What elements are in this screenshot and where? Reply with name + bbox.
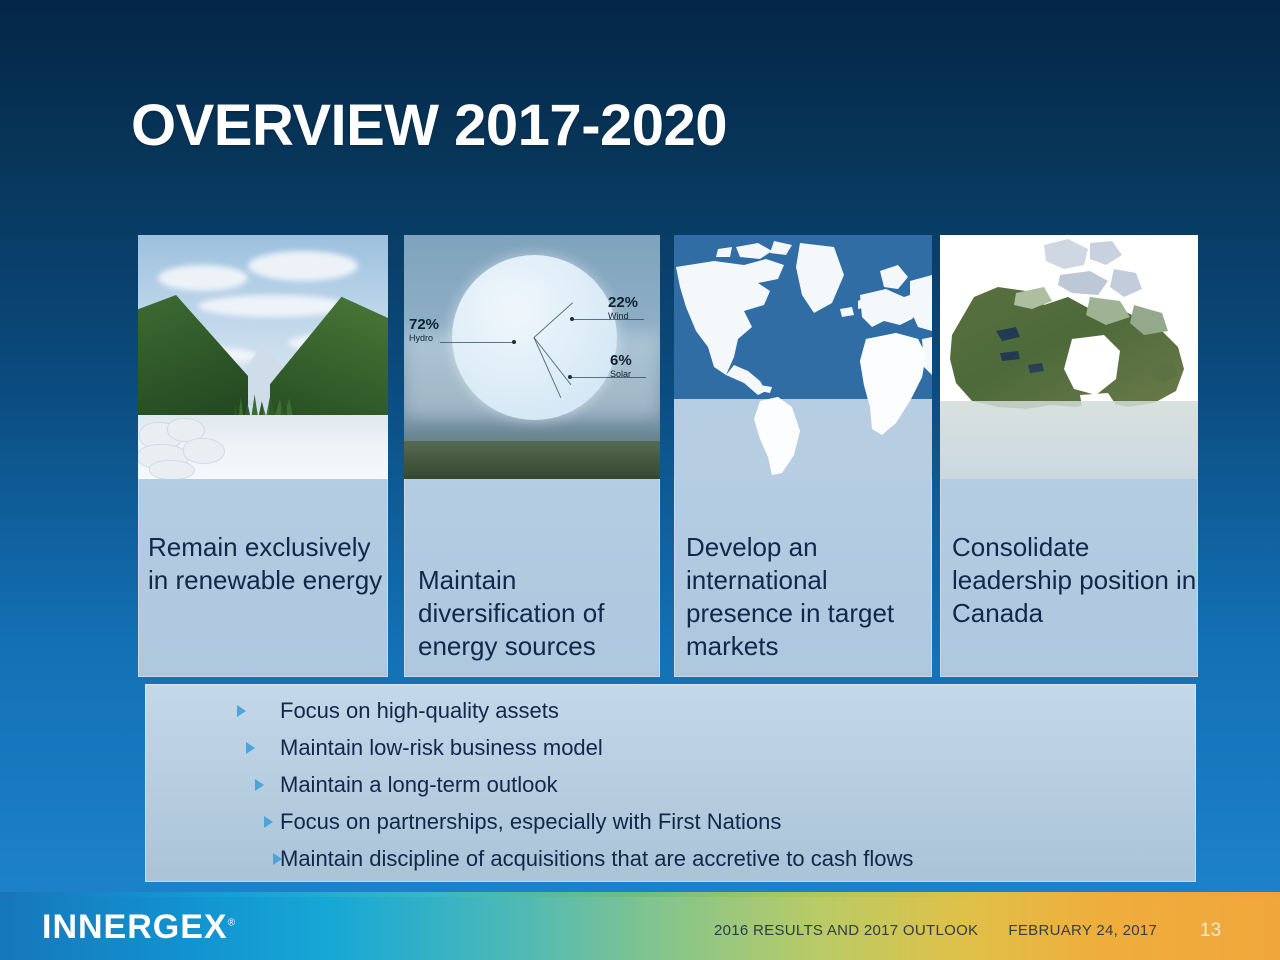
card-caption: Maintain diversification of energy sourc… [404, 479, 660, 677]
pie-label-wind: 22% Wind [608, 295, 638, 322]
footer-meta: 2016 RESULTS AND 2017 OUTLOOK FEBRUARY 2… [714, 922, 1157, 939]
page-title: OVERVIEW 2017-2020 [131, 92, 727, 159]
list-item: Maintain discipline of acquisitions that… [145, 840, 1196, 877]
world-map [674, 235, 932, 479]
footer-date: FEBRUARY 24, 2017 [1008, 922, 1157, 939]
triangle-bullet-icon [246, 742, 255, 754]
strategy-bullet-panel: Focus on high-quality assets Maintain lo… [145, 684, 1196, 882]
slide: OVERVIEW 2017-2020 [0, 0, 1280, 960]
logo-registered-mark: ® [228, 918, 236, 929]
list-item: Focus on partnerships, especially with F… [145, 803, 1196, 840]
pillar-cards: Remain exclusively in renewable energy [138, 235, 1198, 677]
innergex-logo: INNERGEX® [42, 908, 236, 947]
card-energy-diversification[interactable]: 72% Hydro 22% Wind 6% Solar [404, 235, 660, 677]
logo-wordmark: INNERGEX [42, 908, 228, 946]
energy-mix-pie-chart: 72% Hydro 22% Wind 6% Solar [404, 235, 660, 479]
card-international-presence[interactable]: Develop an international presence in tar… [674, 235, 932, 677]
triangle-bullet-icon [255, 779, 264, 791]
world-map-southern-overlay [674, 235, 932, 479]
card-renewable-energy[interactable]: Remain exclusively in renewable energy [138, 235, 388, 677]
list-item: Maintain a long-term outlook [145, 766, 1196, 803]
bullet-label: Maintain discipline of acquisitions that… [280, 846, 913, 872]
card-caption: Remain exclusively in renewable energy [138, 479, 388, 677]
footer-deck-title: 2016 RESULTS AND 2017 OUTLOOK [714, 922, 978, 939]
card-canada-leadership[interactable]: Consolidate leadership position in Canad… [940, 235, 1198, 677]
card-caption: Consolidate leadership position in Canad… [940, 479, 1198, 677]
pie-label-solar: 6% Solar [610, 353, 632, 380]
list-item: Focus on high-quality assets [145, 692, 1196, 729]
triangle-bullet-icon [264, 816, 273, 828]
bullet-label: Maintain a long-term outlook [280, 772, 558, 798]
card-caption: Develop an international presence in tar… [674, 479, 932, 677]
pie-label-hydro: 72% Hydro [409, 317, 439, 344]
list-item: Maintain low-risk business model [145, 729, 1196, 766]
triangle-bullet-icon [237, 705, 246, 717]
bullet-label: Focus on partnerships, especially with F… [280, 809, 781, 835]
bullet-label: Focus on high-quality assets [280, 698, 559, 724]
page-number: 13 [1200, 920, 1221, 942]
hydro-dam-photo [138, 235, 388, 479]
bullet-label: Maintain low-risk business model [280, 735, 603, 761]
canada-map [940, 235, 1198, 479]
